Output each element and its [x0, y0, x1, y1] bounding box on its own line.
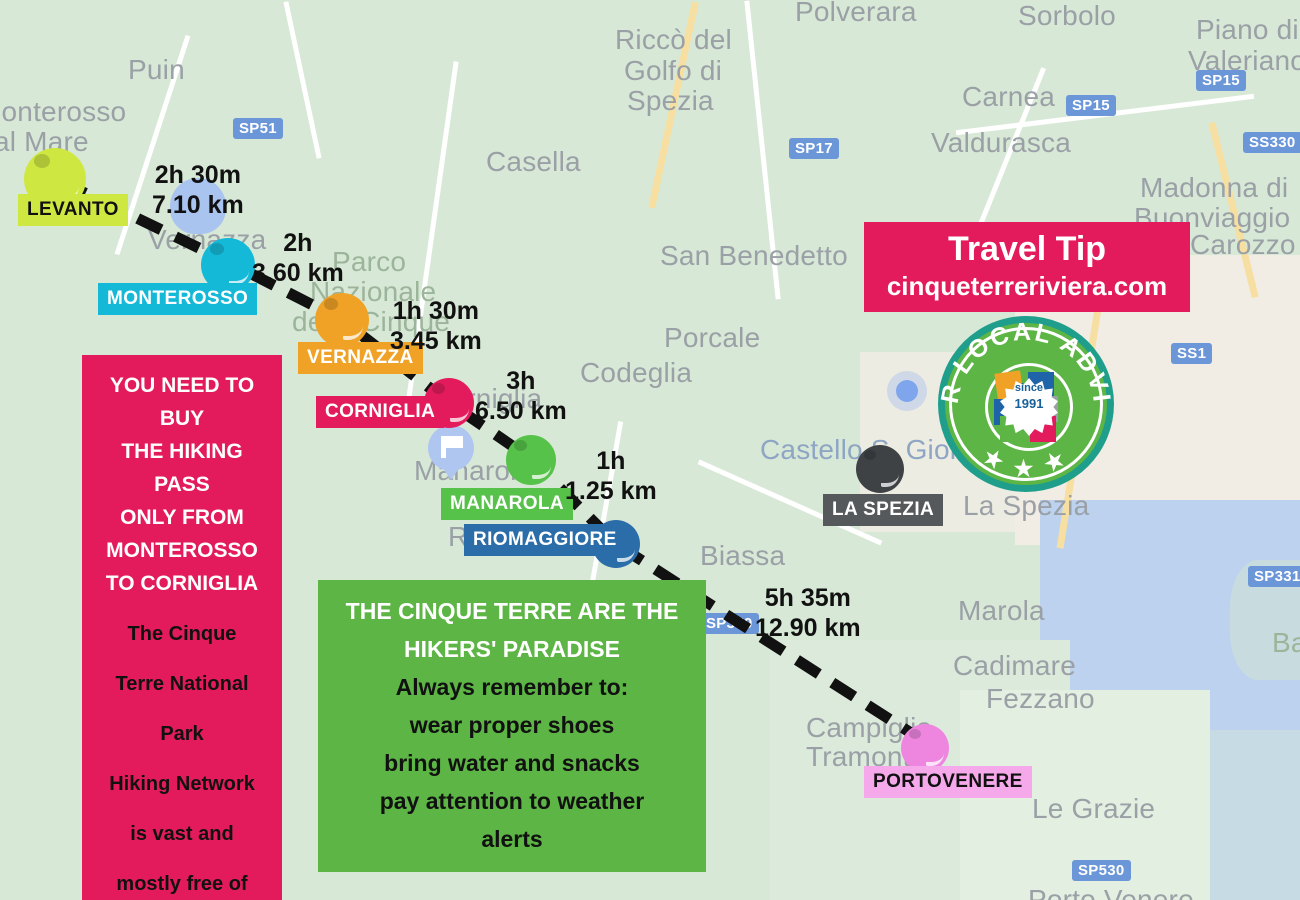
leg-distance: 3.45 km — [390, 326, 482, 356]
leg-time: 1h 30m — [390, 296, 482, 326]
leg-distance: 1.25 km — [565, 476, 657, 506]
hiking-pass-body-line: mostly free of — [90, 868, 274, 900]
leg-time: 2h — [252, 228, 344, 258]
leg-label-riomaggiore-to-portovenere: 5h 35m12.90 km — [755, 583, 861, 643]
hikers-paradise-headline-line: THE CINQUE TERRE ARE THE — [328, 592, 696, 630]
hiking-pass-body-line: Hiking Network — [90, 768, 274, 800]
leg-label-monterosso-to-vernazza: 2h3.60 km — [252, 228, 344, 288]
travel-tip-banner[interactable]: Travel Tip cinqueterreriviera.com — [864, 222, 1190, 312]
leg-label-levanto-to-monterosso: 2h 30m7.10 km — [152, 160, 244, 220]
hiking-pass-headline: YOU NEED TOBUYTHE HIKINGPASSONLY FROMMON… — [90, 369, 274, 600]
hiking-pass-headline-line: PASS — [90, 468, 274, 501]
hiking-pass-headline-line: YOU NEED TO — [90, 369, 274, 402]
leg-distance: 7.10 km — [152, 190, 244, 220]
hikers-paradise-callout: THE CINQUE TERRE ARE THEHIKERS' PARADISE… — [318, 580, 706, 872]
hikers-paradise-body-line: pay attention to weather — [328, 782, 696, 820]
hikers-paradise-body-line: Always remember to: — [328, 668, 696, 706]
leg-distance: 3.60 km — [252, 258, 344, 288]
hiking-pass-body-line: The Cinque — [90, 618, 274, 650]
hiking-pass-headline-line: THE HIKING — [90, 435, 274, 468]
leg-distance: 6.50 km — [475, 396, 567, 426]
hiking-pass-callout: YOU NEED TOBUYTHE HIKINGPASSONLY FROMMON… — [82, 355, 282, 900]
hikers-paradise-body-line: bring water and snacks — [328, 744, 696, 782]
badge-since-label: since — [988, 382, 1070, 394]
map-infographic: PuinPolveraraSorboloRiccò delGolfo diSpe… — [0, 0, 1300, 900]
leg-time: 3h — [475, 366, 567, 396]
hikers-paradise-headline: THE CINQUE TERRE ARE THEHIKERS' PARADISE — [328, 592, 696, 668]
leg-label-vernazza-to-corniglia: 1h 30m3.45 km — [390, 296, 482, 356]
hikers-paradise-body-line: wear proper shoes — [328, 706, 696, 744]
badge-since-year: 1991 — [988, 396, 1070, 411]
hiking-pass-headline-line: MONTEROSSO — [90, 534, 274, 567]
hiking-pass-headline-line: ONLY FROM — [90, 501, 274, 534]
hiking-pass-body: The CinqueTerre NationalParkHiking Netwo… — [90, 618, 274, 900]
leg-distance: 12.90 km — [755, 613, 861, 643]
leg-time: 2h 30m — [152, 160, 244, 190]
leg-time: 1h — [565, 446, 657, 476]
hiking-pass-body-line: Terre National — [90, 668, 274, 700]
travel-tip-website[interactable]: cinqueterreriviera.com — [868, 270, 1186, 302]
badge-core: since 1991 — [985, 363, 1073, 451]
leg-label-corniglia-to-manarola: 3h6.50 km — [475, 366, 567, 426]
your-local-advisor-badge[interactable]: YOUR LOCAL ADVISOR ★ ★ ★ since 1991 — [938, 316, 1114, 492]
hiking-pass-body-line: is vast and — [90, 818, 274, 850]
hiking-pass-body-line: Park — [90, 718, 274, 750]
hiking-pass-headline-line: TO CORNIGLIA — [90, 567, 274, 600]
travel-tip-title: Travel Tip — [868, 228, 1186, 270]
hikers-paradise-body: Always remember to:wear proper shoesbrin… — [328, 668, 696, 858]
hiking-pass-headline-line: BUY — [90, 402, 274, 435]
hikers-paradise-body-line: alerts — [328, 820, 696, 858]
leg-label-manarola-to-riomaggiore: 1h1.25 km — [565, 446, 657, 506]
leg-time: 5h 35m — [755, 583, 861, 613]
hikers-paradise-headline-line: HIKERS' PARADISE — [328, 630, 696, 668]
